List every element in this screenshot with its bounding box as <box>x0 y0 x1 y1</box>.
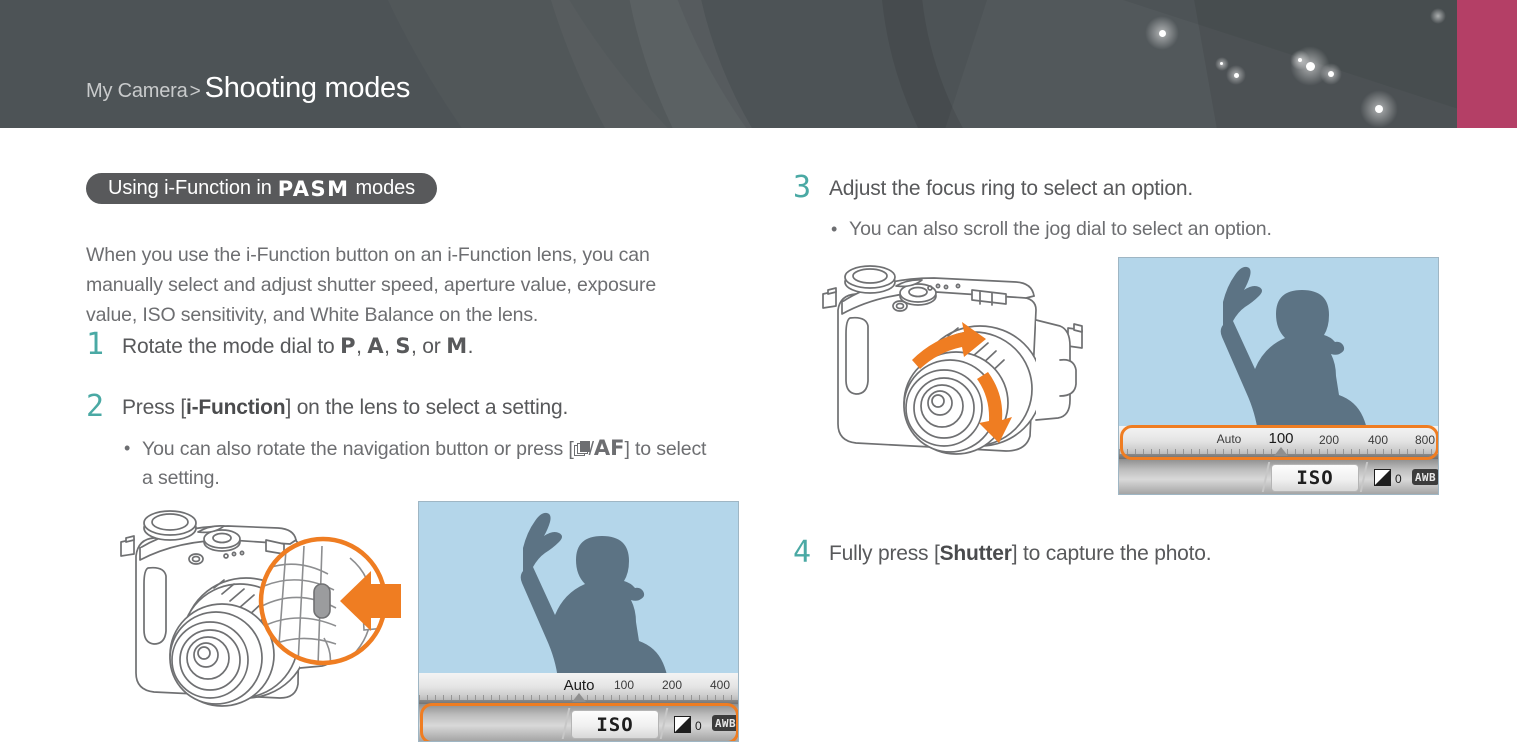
step-1: 1 Rotate the mode dial to P, A, S, or M. <box>86 331 706 362</box>
breadcrumb-parent: My Camera <box>86 80 188 102</box>
step-3-bullet-text: You can also scroll the jog dial to sele… <box>849 215 1272 244</box>
step-3-number: 3 <box>793 174 829 202</box>
af-icon: AF <box>594 436 625 460</box>
step-3-bullet: • You can also scroll the jog dial to se… <box>831 215 1431 244</box>
magnifier-callout <box>118 498 410 742</box>
step-3: 3 Adjust the focus ring to select an opt… <box>793 174 1433 204</box>
settings-bar-left[interactable]: ISO 0 AWB <box>419 704 738 742</box>
white-balance-label: AWB <box>1415 471 1436 484</box>
step-4-text: Fully press [Shutter] to capture the pho… <box>829 539 1211 569</box>
header-swirl-pattern <box>0 0 1457 128</box>
intro-paragraph: When you use the i-Function button on an… <box>86 240 706 330</box>
bullet-marker: • <box>124 434 142 463</box>
step-4-button-name: Shutter <box>940 542 1012 565</box>
iso-scale-right[interactable]: Auto 100 200 400 800 <box>1119 426 1438 459</box>
settings-bar-right[interactable]: ISO 0 AWB <box>1119 459 1438 495</box>
step-4-part-1: Fully press [ <box>829 542 940 565</box>
camera-focus-ring-illustration <box>820 256 1112 484</box>
iso-scale-labels: Auto 100 200 400 800 <box>1119 426 1438 446</box>
drive-mode-icon <box>574 441 589 458</box>
preview-screen-left: Auto 100 200 400 ISO 0 AWB <box>418 501 739 742</box>
iso-label-800[interactable]: 800 <box>1415 433 1435 447</box>
step-2-part-3: ] on the lens to select a setting. <box>285 396 568 419</box>
section-title-modes: PASM <box>278 177 350 201</box>
iso-scale-marker <box>1274 447 1288 456</box>
mode-letter-p: P <box>340 334 356 358</box>
camera-ifunction-button-illustration <box>118 498 410 742</box>
step-2-bullet-text: You can also rotate the navigation butto… <box>142 434 714 493</box>
iso-chip[interactable]: ISO <box>1271 464 1359 492</box>
step-1-text: Rotate the mode dial to P, A, S, or M. <box>122 331 473 362</box>
step-4-part-3: ] to capture the photo. <box>1012 542 1212 565</box>
header-accent-bar <box>1457 0 1517 128</box>
page-header: My Camera>Shooting modes <box>0 0 1517 128</box>
step-2-text: Press [i-Function] on the lens to select… <box>122 393 568 423</box>
iso-scale-labels: Auto 100 200 400 <box>419 673 738 692</box>
settings-separator-right <box>660 708 669 739</box>
mode-letter-s: S <box>395 334 411 358</box>
settings-separator-right <box>1360 462 1368 492</box>
exposure-compensation-value: 0 <box>1395 472 1402 486</box>
exposure-compensation-icon[interactable] <box>674 716 691 733</box>
step-2-bullet: • You can also rotate the navigation but… <box>124 434 714 493</box>
step-4-number: 4 <box>793 539 829 567</box>
iso-label-200[interactable]: 200 <box>662 678 682 692</box>
iso-label-auto[interactable]: Auto <box>564 677 595 694</box>
white-balance-badge[interactable]: AWB <box>1412 469 1439 485</box>
section-title-suffix: modes <box>355 177 415 200</box>
step-2-part-1: Press [ <box>122 396 186 419</box>
iso-scale-left[interactable]: Auto 100 200 400 <box>419 673 738 704</box>
iso-scale-marker <box>572 693 586 702</box>
white-balance-badge[interactable]: AWB <box>712 715 739 731</box>
step-1-text-before: Rotate the mode dial to <box>122 335 340 358</box>
bullet-marker: • <box>831 215 849 244</box>
iso-label-400[interactable]: 400 <box>710 678 730 692</box>
section-title-pill: Using i-Function in PASM modes <box>86 173 437 204</box>
section-title-prefix: Using i-Function in <box>108 177 272 200</box>
step-2: 2 Press [i-Function] on the lens to sele… <box>86 393 706 423</box>
step-1-number: 1 <box>86 331 122 359</box>
step-3-text: Adjust the focus ring to select an optio… <box>829 174 1193 204</box>
iso-label-200[interactable]: 200 <box>1319 433 1339 447</box>
exposure-compensation-value: 0 <box>695 719 702 733</box>
breadcrumb: My Camera>Shooting modes <box>86 74 410 103</box>
iso-label-100[interactable]: 100 <box>614 678 634 692</box>
iso-label-auto[interactable]: Auto <box>1217 432 1242 446</box>
white-balance-label: AWB <box>715 717 736 730</box>
settings-separator-left <box>1262 462 1270 492</box>
rotation-arrows <box>820 256 1112 484</box>
step-1-text-after: . <box>468 335 474 358</box>
settings-separator-left <box>562 708 571 739</box>
preview-screen-right: Auto 100 200 400 800 ISO 0 AWB <box>1118 257 1439 495</box>
exposure-compensation-icon[interactable] <box>1374 469 1391 486</box>
iso-chip-label: ISO <box>596 714 633 736</box>
iso-label-400[interactable]: 400 <box>1368 433 1388 447</box>
iso-label-100[interactable]: 100 <box>1268 430 1293 447</box>
breadcrumb-separator: > <box>190 81 201 102</box>
step-4: 4 Fully press [Shutter] to capture the p… <box>793 539 1433 569</box>
iso-chip[interactable]: ISO <box>571 710 659 739</box>
step-2-button-name: i-Function <box>186 396 285 419</box>
mode-letter-a: A <box>367 334 384 358</box>
iso-chip-label: ISO <box>1296 467 1333 489</box>
mode-letter-m: M <box>446 334 467 358</box>
page-title: Shooting modes <box>205 72 410 104</box>
step-2-bullet-before: You can also rotate the navigation butto… <box>142 438 574 460</box>
step-2-number: 2 <box>86 393 122 421</box>
